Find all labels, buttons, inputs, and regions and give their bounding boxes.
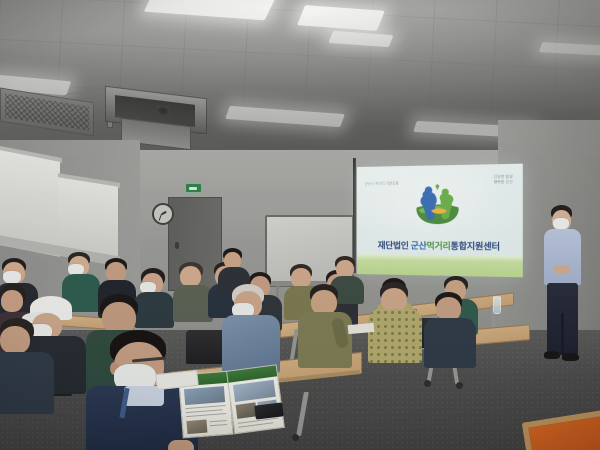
brochure-photo: [186, 420, 207, 435]
emergency-exit-sign: [186, 184, 201, 192]
presenter-shirt: [544, 229, 581, 285]
attendee-body: [424, 318, 476, 368]
attendee-head: [1, 290, 23, 312]
attendee-mid-plaid: [222, 284, 278, 370]
hand: [168, 440, 194, 450]
people-leaf-logo: [410, 183, 465, 235]
slide-title-seg-0: 재단법인: [378, 240, 411, 250]
slide-top-right-text: 건강한 밥상 행복한 군산: [494, 174, 513, 185]
attendee-head: [106, 262, 126, 282]
brochure-text-line: [210, 420, 227, 422]
presenter: [540, 205, 586, 370]
brochure-text-line: [210, 424, 227, 426]
attendee-body: [0, 352, 54, 414]
attendee-head: [180, 266, 201, 287]
brochure-text-line: [186, 409, 223, 413]
slide-title-seg-2: 먹거리: [427, 241, 451, 252]
attendee-mid-olive: [300, 284, 352, 364]
attendee-mid-left-2: [0, 318, 60, 410]
presenter-shoe-right: [562, 353, 579, 361]
slide-title-seg-1: 군산: [411, 240, 427, 250]
water-bottle: [493, 296, 501, 314]
presenter-shoe-left: [544, 351, 560, 359]
attendee-pattern: [368, 309, 422, 363]
attendee-mid-patterned: [370, 282, 422, 360]
slide-title-seg-3: 통합지원센터: [451, 241, 500, 252]
clock-minute-hand: [158, 214, 161, 221]
brochure-right-page: [226, 364, 285, 434]
brochure-text-line: [186, 413, 226, 417]
desk-caster: [424, 380, 431, 387]
presenter-leg-gap: [561, 313, 564, 355]
brochure-photo: [233, 380, 276, 402]
slide-title: 재단법인 군산먹거리통합지원센터: [357, 239, 523, 253]
presenter-hands: [554, 265, 570, 274]
door-knob[interactable]: [175, 242, 179, 249]
slide-green-band: [357, 254, 523, 277]
attendee-head: [0, 326, 30, 354]
slide-slogan-line2: 행복한 군산: [494, 180, 513, 185]
attendee-body: [173, 285, 213, 322]
desk-caster: [292, 434, 299, 441]
attendee-mid-dark: [424, 292, 476, 366]
desk-caster: [456, 382, 463, 389]
brochure-photo: [184, 386, 225, 405]
slide-top-left-text: 군산시 먹거리 기본조례: [365, 180, 399, 186]
wall-clock: [152, 203, 174, 225]
attendee-back-6: [174, 262, 212, 320]
projection-screen: 군산시 먹거리 기본조례 건강한 밥상 행복한 군산 재단법인 군산먹거리통합지…: [357, 164, 523, 278]
seminar-room-photo: 군산시 먹거리 기본조례 건강한 밥상 행복한 군산 재단법인 군산먹거리통합지…: [0, 0, 600, 450]
